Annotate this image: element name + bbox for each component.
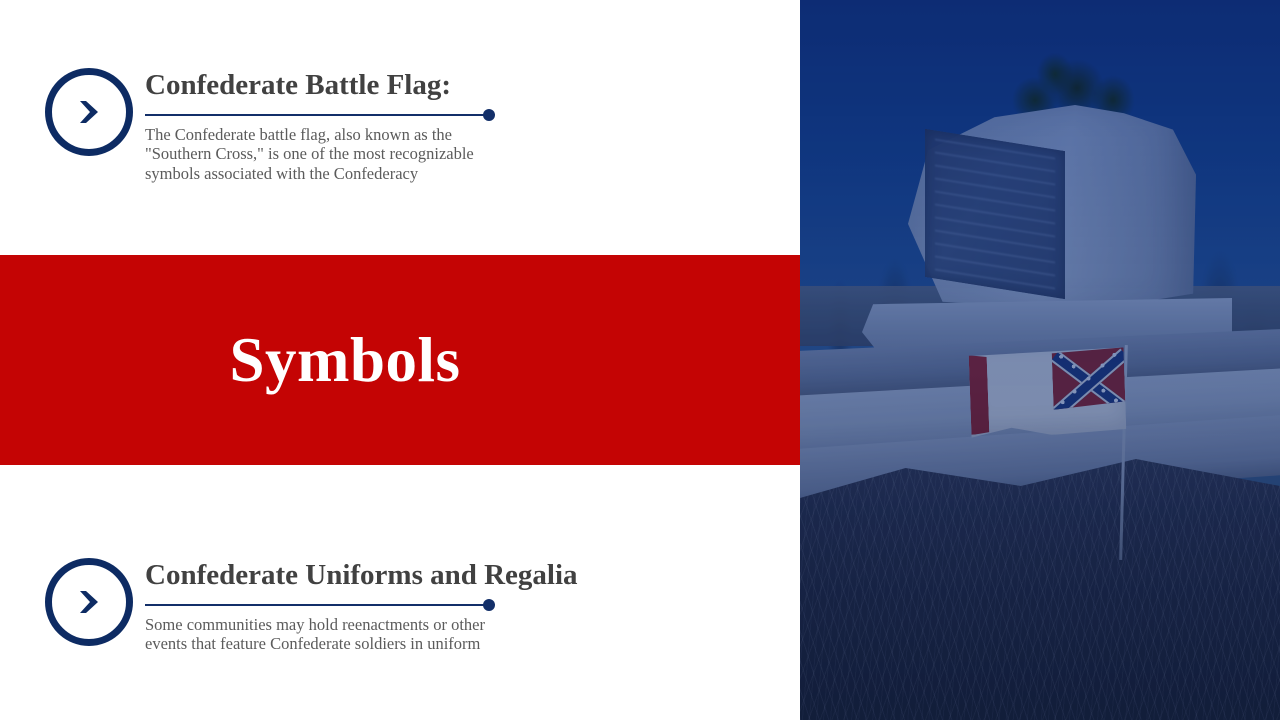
content-column: Confederate Battle Flag: The Confederate…: [0, 0, 800, 720]
feature-body: The Confederate battle flag, also known …: [145, 125, 493, 183]
feature-block-battle-flag: Confederate Battle Flag: The Confederate…: [45, 68, 493, 183]
chevron-right-circle-icon: [45, 558, 133, 646]
section-banner: Symbols: [0, 255, 800, 465]
feature-text-group: Confederate Battle Flag: The Confederate…: [145, 68, 493, 183]
photo-blue-wash-overlay: [800, 0, 1280, 720]
banner-title: Symbols: [229, 329, 570, 392]
slide-canvas: Confederate Battle Flag: The Confederate…: [0, 0, 1280, 720]
divider-dot: [483, 599, 495, 611]
feature-body-line: Some communities may hold reenactments o…: [145, 615, 545, 634]
feature-title: Confederate Uniforms and Regalia: [145, 560, 578, 592]
divider-rule: [145, 114, 493, 116]
feature-body-line: The Confederate battle flag, also known …: [145, 125, 493, 144]
feature-block-uniforms: Confederate Uniforms and Regalia Some co…: [45, 558, 578, 654]
feature-title: Confederate Battle Flag:: [145, 70, 493, 102]
feature-body-line: "Southern Cross," is one of the most rec…: [145, 144, 493, 163]
feature-body-line: symbols associated with the Confederacy: [145, 164, 493, 183]
feature-body: Some communities may hold reenactments o…: [145, 615, 545, 654]
monument-photo: [800, 0, 1280, 720]
title-divider: [145, 599, 493, 611]
divider-dot: [483, 109, 495, 121]
feature-text-group: Confederate Uniforms and Regalia Some co…: [145, 558, 578, 654]
title-divider: [145, 109, 493, 121]
feature-body-line: events that feature Confederate soldiers…: [145, 634, 545, 653]
chevron-right-circle-icon: [45, 68, 133, 156]
divider-rule: [145, 604, 493, 606]
